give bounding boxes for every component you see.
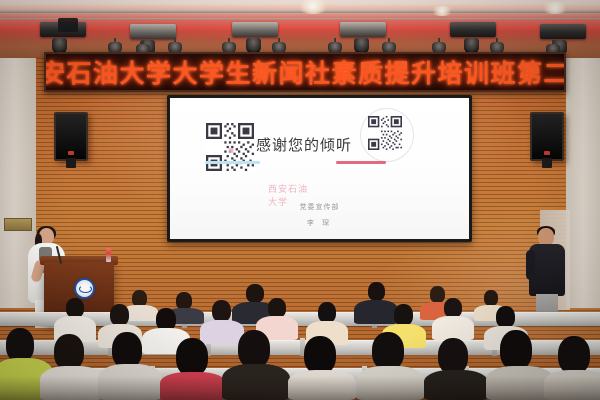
- banner-title-text: 西安石油大学大学生新闻社素质提升培训班第二讲: [44, 54, 566, 90]
- audience-head: [500, 330, 532, 370]
- audience-shoulders: [354, 300, 398, 324]
- audience-head: [496, 306, 515, 328]
- audience-head: [54, 334, 84, 370]
- audience-head: [246, 284, 264, 303]
- slide-title-text: 感谢您的倾听: [256, 134, 352, 155]
- audience-head: [212, 300, 231, 322]
- projection-screen-frame: 感谢您的倾听 西安石油大学 党委宣传部 李 琛: [167, 95, 472, 242]
- audience-head: [372, 332, 404, 370]
- audience-head: [430, 286, 445, 303]
- foreground-shadow: [0, 376, 600, 400]
- audience-shoulders: [432, 316, 474, 340]
- wall-speaker-left: [54, 112, 88, 161]
- audience-head: [484, 290, 498, 306]
- slide-accent-bar-right: [336, 161, 386, 164]
- audience-head: [66, 298, 84, 318]
- audience-head: [176, 338, 208, 376]
- audience-head: [112, 332, 142, 368]
- audience-shoulders: [200, 320, 244, 344]
- slide-department-text: 党委宣传部: [170, 202, 469, 212]
- audience-head: [438, 338, 468, 374]
- audience-head: [444, 298, 462, 318]
- ceiling-light-glow: [430, 6, 454, 16]
- lecture-hall-photo: 西安石油大学大学生新闻社素质提升培训班第二讲: [0, 0, 600, 400]
- water-bottle: [106, 248, 111, 262]
- right-wall-panel: [566, 58, 600, 308]
- slide-university-logo: 西安石油大学: [268, 182, 314, 195]
- wall-speaker-right: [530, 112, 564, 161]
- audience-head: [558, 336, 590, 374]
- ceiling-truss-bar-secondary: [0, 18, 600, 20]
- led-banner: 西安石油大学大学生新闻社素质提升培训班第二讲: [44, 52, 566, 92]
- audience-head: [304, 336, 336, 374]
- audience-head: [268, 298, 286, 318]
- audience-head: [238, 330, 270, 368]
- audience-head: [6, 328, 34, 362]
- qr-code-right-icon: [368, 116, 402, 150]
- ceiling-light-glow: [540, 2, 570, 14]
- slide-accent-bar-left: [205, 161, 260, 164]
- audience-area: [0, 276, 600, 400]
- slide-presenter-name: 李 琛: [170, 218, 469, 228]
- ceiling-speaker: [58, 18, 78, 32]
- audience-head: [368, 282, 385, 301]
- projection-screen: 感谢您的倾听 西安石油大学 党委宣传部 李 琛: [170, 98, 469, 239]
- audience-head: [110, 304, 129, 326]
- audience-head: [394, 304, 413, 326]
- audience-head: [318, 302, 336, 323]
